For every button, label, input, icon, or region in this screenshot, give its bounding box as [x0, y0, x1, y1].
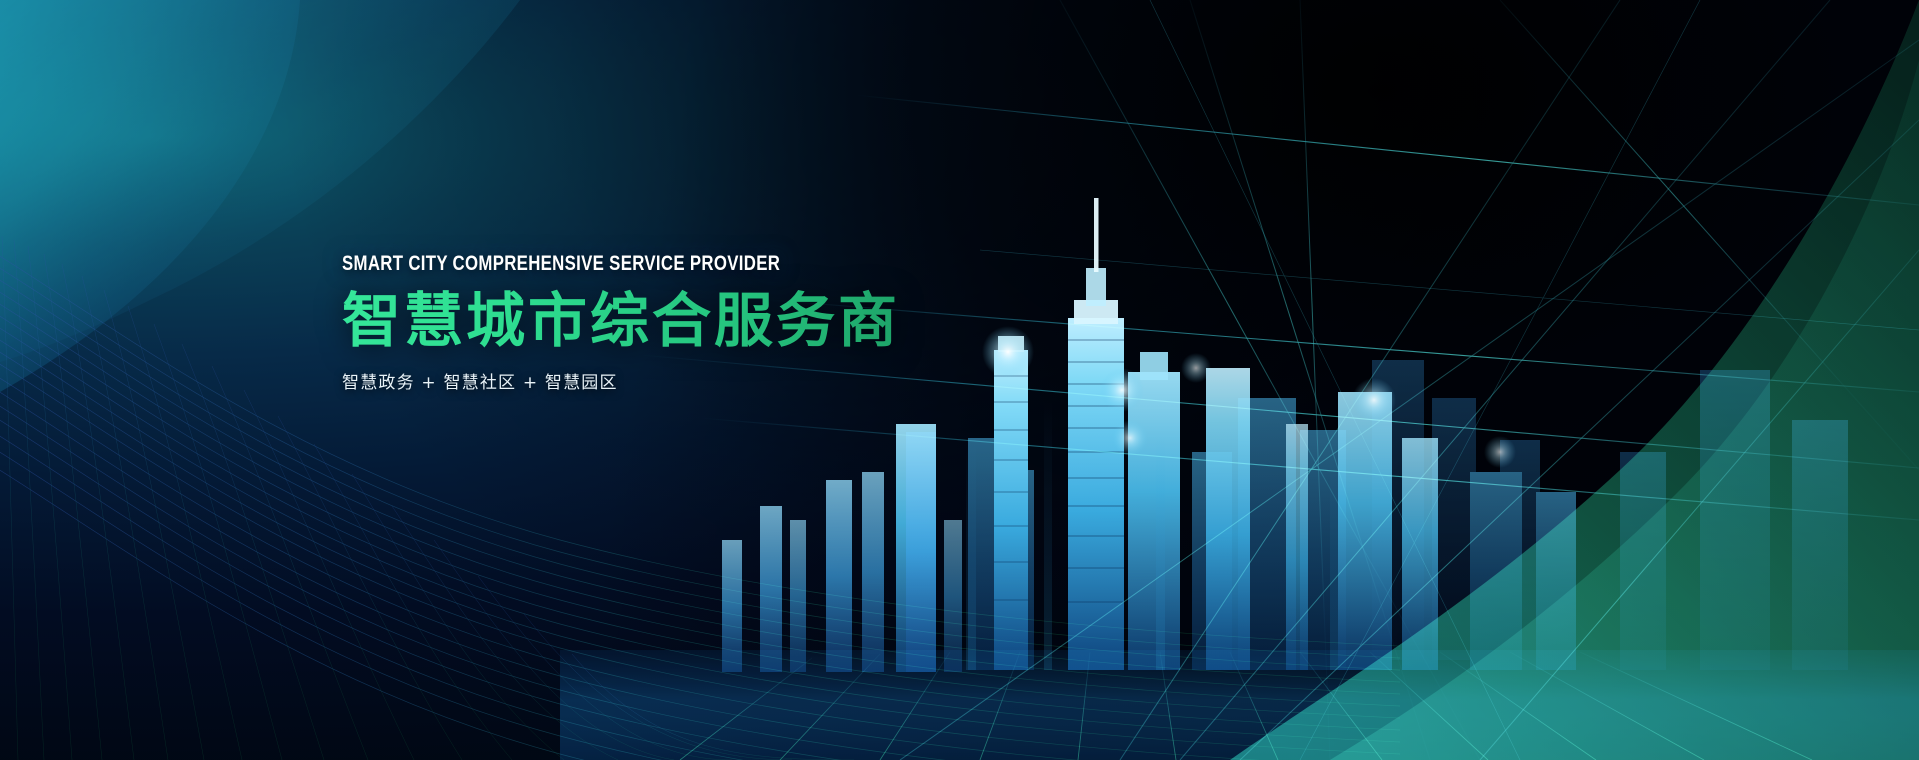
hero-banner: SMART CITY COMPREHENSIVE SERVICE PROVIDE… [0, 0, 1919, 760]
hero-eyebrow: SMART CITY COMPREHENSIVE SERVICE PROVIDE… [342, 252, 950, 276]
hero-text-block: SMART CITY COMPREHENSIVE SERVICE PROVIDE… [342, 252, 1102, 393]
hero-subtitle: 智慧政务 + 智慧社区 + 智慧园区 [342, 368, 1102, 393]
page-title: 智慧城市综合服务商 [342, 289, 1102, 353]
